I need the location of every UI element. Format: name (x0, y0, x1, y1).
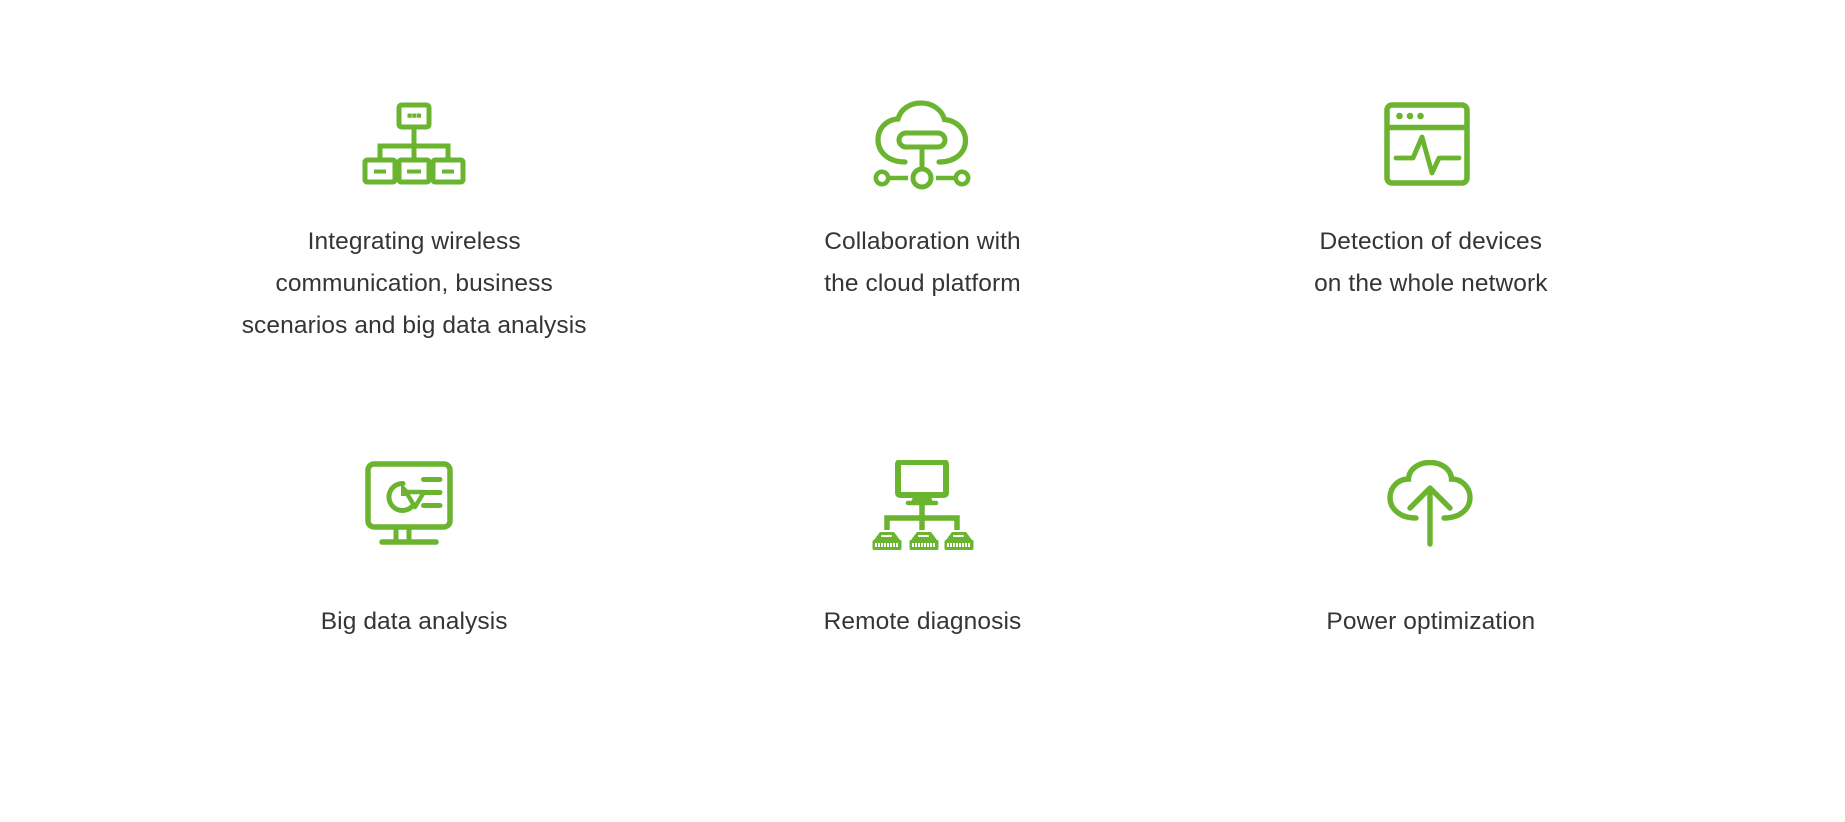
feature-label: Detection of devices on the whole networ… (1314, 221, 1548, 305)
feature-label: Remote diagnosis (824, 601, 1022, 643)
feature-item-integrating-wireless: Integrating wireless communication, busi… (160, 95, 668, 455)
feature-label: Integrating wireless communication, busi… (242, 221, 587, 347)
monitor-switches-icon (863, 455, 981, 559)
feature-item-remote-diagnosis: Remote diagnosis (668, 455, 1176, 795)
feature-label: Big data analysis (321, 601, 508, 643)
cloud-upload-icon (1372, 455, 1490, 559)
feature-item-power-optimization: Power optimization (1177, 455, 1685, 795)
feature-item-big-data-analysis: Big data analysis (160, 455, 668, 795)
feature-label: Collaboration with the cloud platform (824, 221, 1021, 305)
feature-item-cloud-collaboration: Collaboration with the cloud platform (668, 95, 1176, 455)
browser-pulse-monitor-icon (1372, 95, 1490, 195)
network-topology-icon (355, 95, 473, 195)
cloud-network-icon (863, 95, 981, 195)
feature-item-device-detection: Detection of devices on the whole networ… (1177, 95, 1685, 455)
feature-label: Power optimization (1326, 601, 1535, 643)
feature-grid: Integrating wireless communication, busi… (0, 0, 1845, 822)
monitor-pie-chart-icon (355, 455, 473, 559)
